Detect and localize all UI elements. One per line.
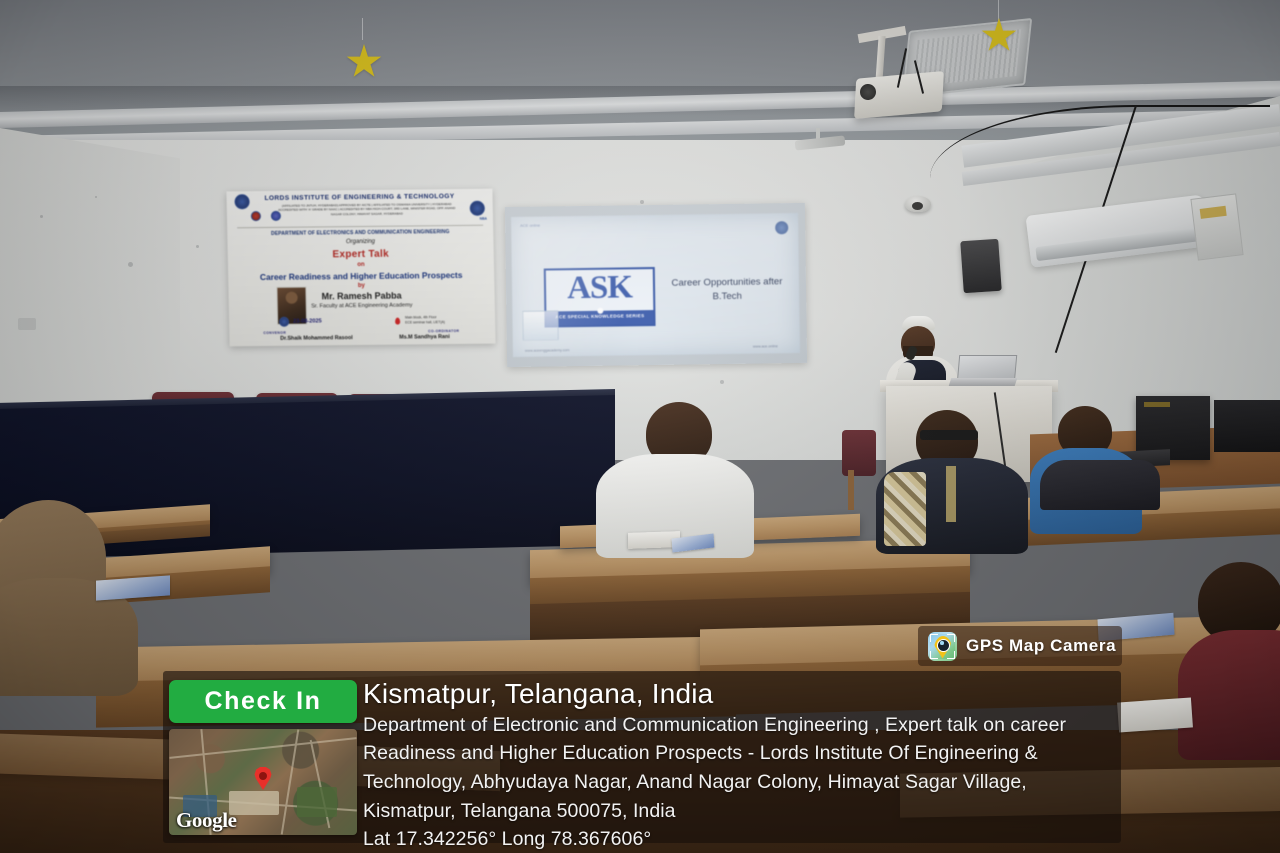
wall-mark bbox=[95, 196, 97, 198]
wall-mark bbox=[40, 215, 43, 218]
banner-accreditation: (AFFILIATED TO JNTUH, HYDERABAD) APPROVE… bbox=[273, 202, 461, 217]
slide-title: Career Opportunities after B.Tech bbox=[664, 275, 790, 305]
wall-mark bbox=[128, 262, 133, 267]
address-line: Readiness and Higher Education Prospects… bbox=[363, 739, 1115, 768]
address-line: Technology, Abhyudaya Nagar, Anand Nagar… bbox=[363, 768, 1115, 797]
address-line: Department of Electronic and Communicati… bbox=[363, 711, 1115, 740]
slide-brand-logo: ACE online bbox=[520, 224, 540, 229]
wall-mark bbox=[720, 380, 724, 384]
google-watermark: Google bbox=[176, 808, 237, 833]
slide-footer-right: www.ace.online bbox=[753, 344, 778, 348]
banner-speaker-name: Mr. Ramesh Pabba bbox=[228, 290, 494, 303]
gps-map-camera-icon bbox=[928, 632, 957, 661]
slide-artifact bbox=[522, 310, 558, 340]
location-info-panel: Check In Google Kismatpur, Telangana, In… bbox=[163, 671, 1121, 843]
accreditation-logo-icon bbox=[251, 211, 261, 221]
star-string bbox=[362, 18, 363, 40]
audience-person bbox=[600, 402, 752, 552]
banner-coordinator-name: Ms.M Sandhya Rani bbox=[359, 334, 489, 341]
paper-stack bbox=[1117, 697, 1193, 732]
banner-organizing: Organizing bbox=[227, 238, 493, 247]
lanyard bbox=[946, 466, 956, 522]
banner-topic: Career Readiness and Higher Education Pr… bbox=[228, 270, 494, 283]
side-chair-leg bbox=[848, 470, 854, 510]
ask-logo-band-text: ACE SPECIAL KNOWLEDGE SERIES bbox=[546, 313, 653, 319]
location-pin-icon bbox=[395, 318, 400, 325]
checked-sleeve bbox=[884, 472, 926, 546]
laptop-base bbox=[949, 378, 1018, 386]
ask-logo-dot-icon bbox=[597, 308, 603, 314]
map-green-patch bbox=[297, 787, 337, 817]
ask-logo: ASK ACE SPECIAL KNOWLEDGE SERIES bbox=[544, 267, 656, 328]
banner-side-badge: NBA bbox=[480, 217, 487, 221]
banner-speaker-role: Sr. Faculty at ACE Engineering Academy bbox=[229, 302, 495, 311]
monitor bbox=[1214, 400, 1280, 452]
wall-control-box bbox=[1190, 193, 1243, 260]
naac-logo-icon bbox=[470, 201, 485, 216]
audience-person bbox=[1188, 562, 1280, 742]
check-in-button[interactable]: Check In bbox=[169, 680, 357, 723]
banner-coordinator-label: CO-ORDINATOR bbox=[428, 329, 459, 333]
wall-mark bbox=[640, 200, 644, 204]
wall-vent bbox=[18, 318, 36, 330]
banner-department: DEPARTMENT OF ELECTRONICS AND COMMUNICAT… bbox=[227, 229, 493, 238]
ask-logo-text: ASK bbox=[546, 271, 653, 305]
banner-on-word: on bbox=[228, 261, 494, 270]
event-banner: LORDS INSTITUTE OF ENGINEERING & TECHNOL… bbox=[226, 189, 495, 347]
wall-speaker-icon bbox=[960, 239, 1002, 294]
banner-venue: Main block, 4th Floor ECE seminar hall, … bbox=[405, 315, 445, 326]
projection-screen: ACE online ASK ACE SPECIAL KNOWLEDGE SER… bbox=[511, 213, 800, 357]
slide-footer-left: www.aceenggacademy.com bbox=[525, 348, 570, 353]
calendar-icon bbox=[279, 317, 289, 327]
wall-mark bbox=[196, 245, 199, 248]
screenshot-root: LORDS INSTITUTE OF ENGINEERING & TECHNOL… bbox=[0, 0, 1280, 853]
eyeglasses-icon bbox=[920, 430, 978, 440]
map-thumbnail[interactable]: Google bbox=[169, 729, 357, 835]
gps-map-camera-label: GPS Map Camera bbox=[966, 636, 1116, 656]
location-details: Kismatpur, Telangana, India Department o… bbox=[363, 677, 1115, 853]
gps-map-camera-badge[interactable]: GPS Map Camera bbox=[918, 626, 1122, 666]
audience-person bbox=[1040, 436, 1160, 506]
address-line: Kismatpur, Telangana 500075, India bbox=[363, 797, 1115, 826]
banner-event-title: Expert Talk bbox=[228, 248, 494, 262]
banner-convener-label: CONVENOR bbox=[263, 331, 286, 335]
security-camera-icon bbox=[905, 196, 931, 212]
slide-corner-logo-icon bbox=[775, 221, 788, 234]
location-title: Kismatpur, Telangana, India bbox=[363, 677, 1115, 711]
audience-person bbox=[880, 410, 1030, 550]
check-in-label: Check In bbox=[205, 687, 322, 716]
banner-institute-name: LORDS INSTITUTE OF ENGINEERING & TECHNOL… bbox=[226, 193, 492, 203]
coordinates-line: Lat 17.342256° Long 78.367606° bbox=[363, 825, 1115, 853]
banner-date: 23-08-2025 bbox=[293, 318, 322, 324]
